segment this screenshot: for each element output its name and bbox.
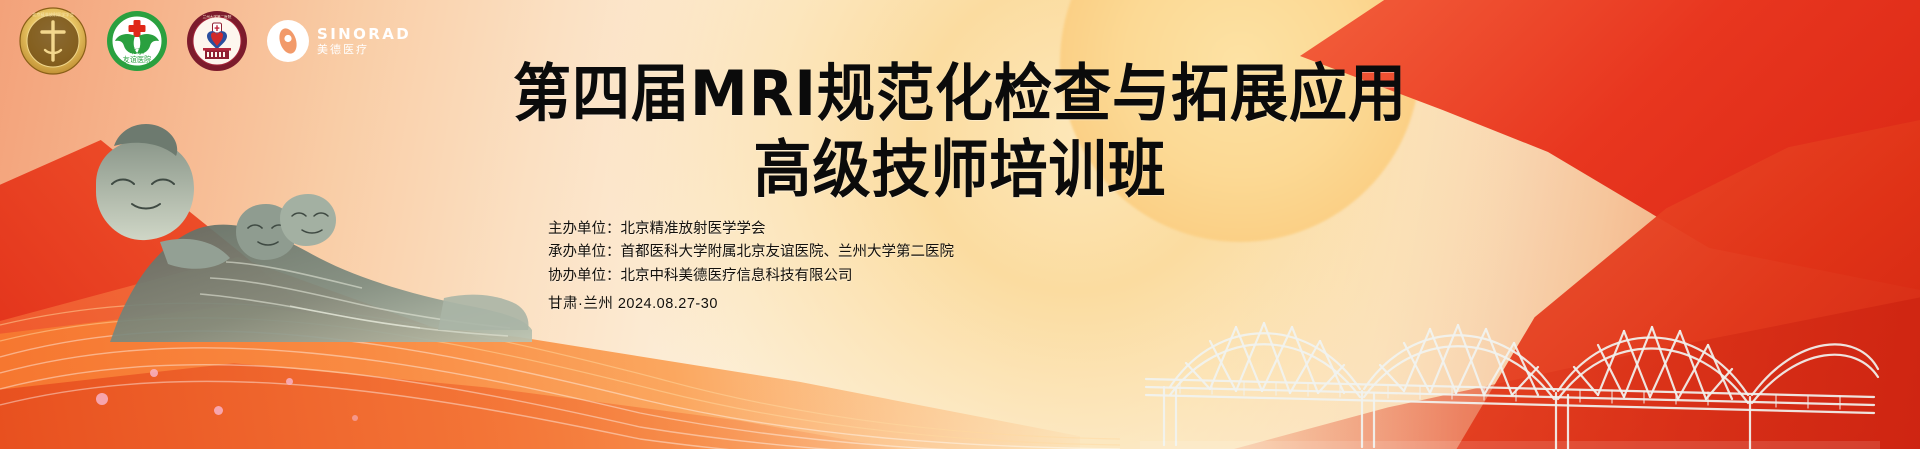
organizer-info-block: 主办单位：北京精准放射医学学会 承办单位：首都医科大学附属北京友谊医院、兰州大学… <box>548 218 954 317</box>
conference-banner: 北京精准放射医学学会 北京 友谊医院 <box>0 0 1920 449</box>
location-date-line: 甘肃·兰州 2024.08.27-30 <box>548 293 954 316</box>
dunhuang-reclining-buddha-illustration <box>40 92 540 342</box>
co-organizer-line: 协办单位：北京中科美德医疗信息科技有限公司 <box>548 265 954 288</box>
sinorad-en-label: SINORAD <box>317 27 411 42</box>
lanzhou-zhongshan-bridge-illustration <box>1140 219 1880 449</box>
decorative-dot <box>214 406 223 415</box>
decorative-dot <box>150 369 158 377</box>
svg-text:北京精准放射医学学会: 北京精准放射医学学会 <box>32 11 75 18</box>
svg-text:兰州大学第二医院: 兰州大学第二医院 <box>203 14 232 19</box>
decorative-dot <box>352 415 358 421</box>
sinorad-cn-label: 美德医疗 <box>317 45 411 56</box>
logo-row: 北京精准放射医学学会 北京 友谊医院 <box>18 6 411 76</box>
decorative-dot <box>96 393 108 405</box>
sinorad-mark-icon <box>266 19 310 63</box>
decorative-dot <box>286 378 293 385</box>
sinorad-logo: SINORAD 美德医疗 <box>266 19 411 63</box>
svg-text:友谊医院: 友谊医院 <box>123 55 152 64</box>
organizer-line: 承办单位：首都医科大学附属北京友谊医院、兰州大学第二医院 <box>548 241 954 264</box>
host-line: 主办单位：北京精准放射医学学会 <box>548 218 954 241</box>
beijing-friendship-hospital-logo: 北京 友谊医院 <box>106 10 168 72</box>
beijing-precision-radiology-society-logo: 北京精准放射医学学会 <box>18 6 88 76</box>
lanzhou-university-second-hospital-logo: 兰州大学第二医院 <box>186 10 248 72</box>
